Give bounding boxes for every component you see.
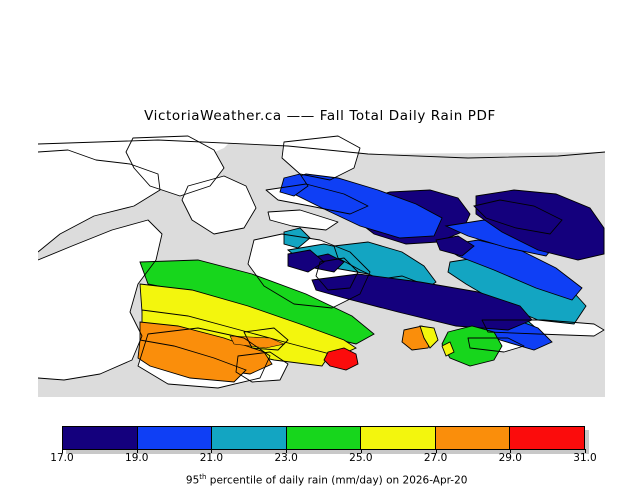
screenshot-root: VictoriaWeather.ca —— Fall Total Daily R… [0,0,640,480]
colorbar-segments[interactable] [62,426,585,450]
page-title: VictoriaWeather.ca —— Fall Total Daily R… [0,108,640,124]
caption-pre: 95 [186,475,199,487]
colorbar-segment-0[interactable] [63,427,138,449]
colorbar-segment-5[interactable] [436,427,511,449]
map-panel[interactable] [38,134,605,397]
colorbar-segment-4[interactable] [361,427,436,449]
map-svg[interactable] [38,134,605,397]
caption-post: percentile of daily rain (mm/day) on 202… [206,475,467,487]
colorbar-segment-3[interactable] [287,427,362,449]
colorbar[interactable] [62,426,585,450]
colorbar-segment-1[interactable] [138,427,213,449]
colorbar-segment-6[interactable] [510,427,584,449]
colorbar-segment-2[interactable] [212,427,287,449]
